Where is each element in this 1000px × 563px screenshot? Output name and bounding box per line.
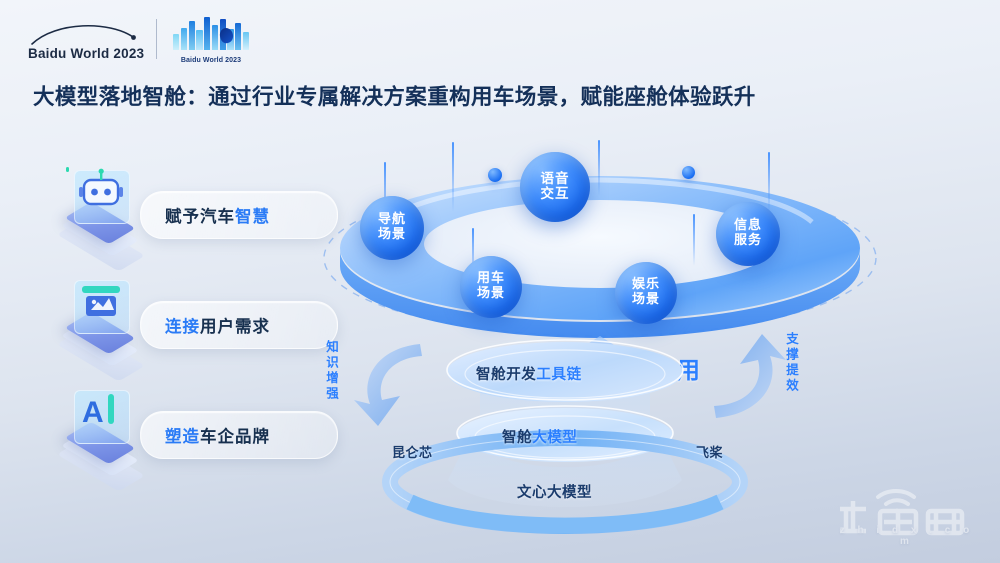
layer-text-plain: 智舱开发: [476, 367, 536, 383]
skyline-logo-text: Baidu World 2023: [173, 57, 249, 64]
pillar-text-highlight: 连接: [165, 313, 200, 337]
node-line-1: 用车: [477, 272, 505, 287]
pillar-text-plain: 赋予汽车: [165, 203, 235, 227]
ring-node-entertainment[interactable]: 娱乐 场景: [615, 262, 677, 324]
ring-node-information[interactable]: 信息 服务: [716, 202, 780, 266]
ring-node-navigation[interactable]: 导航 场景: [360, 196, 424, 260]
pillar-text-plain: 车企品牌: [200, 423, 270, 447]
right-curved-arrow-icon: [700, 330, 792, 424]
pillar-item-store[interactable]: 连接用户需求: [62, 270, 322, 380]
watermark: z h i d x . c o m: [832, 487, 982, 549]
slide-title: 大模型落地智舱：通过行业专属解决方案重构用车场景，赋能座舱体验跃升: [33, 80, 756, 111]
base-label-paddle: 飞桨: [696, 442, 723, 461]
watermark-domain: z h i d x . c o m: [832, 525, 982, 547]
pillar-item-ai[interactable]: A 塑造车企品牌: [62, 380, 322, 490]
decor-orb: [488, 168, 502, 182]
light-pole: [693, 214, 695, 266]
layer-text-highlight: 工具链: [536, 367, 581, 383]
skyline-bars-icon: [173, 14, 249, 50]
node-line-2: 交互: [541, 187, 570, 202]
node-line-2: 场景: [632, 293, 660, 308]
ring-node-voice[interactable]: 语音 交互: [520, 152, 590, 222]
slide-canvas: Baidu World 2023 Baidu World 2023 大模型落地智…: [0, 0, 1000, 563]
layer-label-toolchain: 智舱开发工具链: [476, 363, 582, 384]
decor-orb: [682, 166, 695, 179]
ai-application-ring: 智舱AI原生应用 导航 场景 语音 交互 用车 场景 娱乐 场景 信息 服务: [300, 140, 920, 350]
robot-glyph-icon: [62, 166, 140, 222]
baidu-world-wordmark-logo: Baidu World 2023: [28, 16, 140, 62]
layer-text-highlight: 大模型: [532, 430, 577, 446]
node-line-1: 信息: [734, 219, 762, 234]
logo-divider: [156, 19, 157, 59]
side-label-knowledge: 知识增强: [322, 340, 341, 402]
baidu-world-logo-text: Baidu World 2023: [28, 46, 140, 61]
node-line-2: 场景: [378, 228, 406, 243]
node-line-1: 导航: [378, 213, 406, 228]
baidu-world-skyline-logo: Baidu World 2023: [173, 14, 249, 64]
pillar-item-robot[interactable]: 赋予汽车智慧: [62, 160, 322, 270]
pillar-text-plain: 用户需求: [200, 313, 270, 337]
pillar-text-highlight: 智慧: [235, 203, 270, 227]
pillar-text-highlight: 塑造: [165, 423, 200, 447]
pillar-list: 赋予汽车智慧 连接用户需求: [62, 160, 322, 490]
arc-icon: [30, 20, 138, 46]
layer-text-plain: 智舱: [502, 430, 532, 446]
base-label-wenxin: 文心大模型: [517, 481, 592, 502]
ring-node-vehicle-usage[interactable]: 用车 场景: [460, 256, 522, 318]
light-pole: [452, 142, 454, 212]
node-line-1: 语音: [541, 172, 570, 187]
robot-icon: [62, 166, 140, 262]
node-line-1: 娱乐: [632, 278, 660, 293]
light-pole: [768, 152, 770, 214]
light-pole: [598, 140, 600, 196]
layer-label-cockpit-model: 智舱大模型: [502, 426, 578, 447]
store-glyph-icon: [62, 276, 140, 332]
store-icon: [62, 276, 140, 372]
node-line-2: 服务: [734, 234, 762, 249]
pillar-label-ai: 塑造车企品牌: [140, 411, 338, 459]
ai-badge-icon: A: [62, 386, 140, 482]
node-line-2: 场景: [477, 287, 505, 302]
left-curved-arrow-icon: [348, 338, 438, 430]
base-label-kunlun: 昆仑芯: [392, 442, 433, 461]
ai-glyph-icon: A: [62, 386, 140, 442]
logo-bar: Baidu World 2023 Baidu World 2023: [28, 14, 249, 64]
svg-text:A: A: [82, 396, 104, 429]
